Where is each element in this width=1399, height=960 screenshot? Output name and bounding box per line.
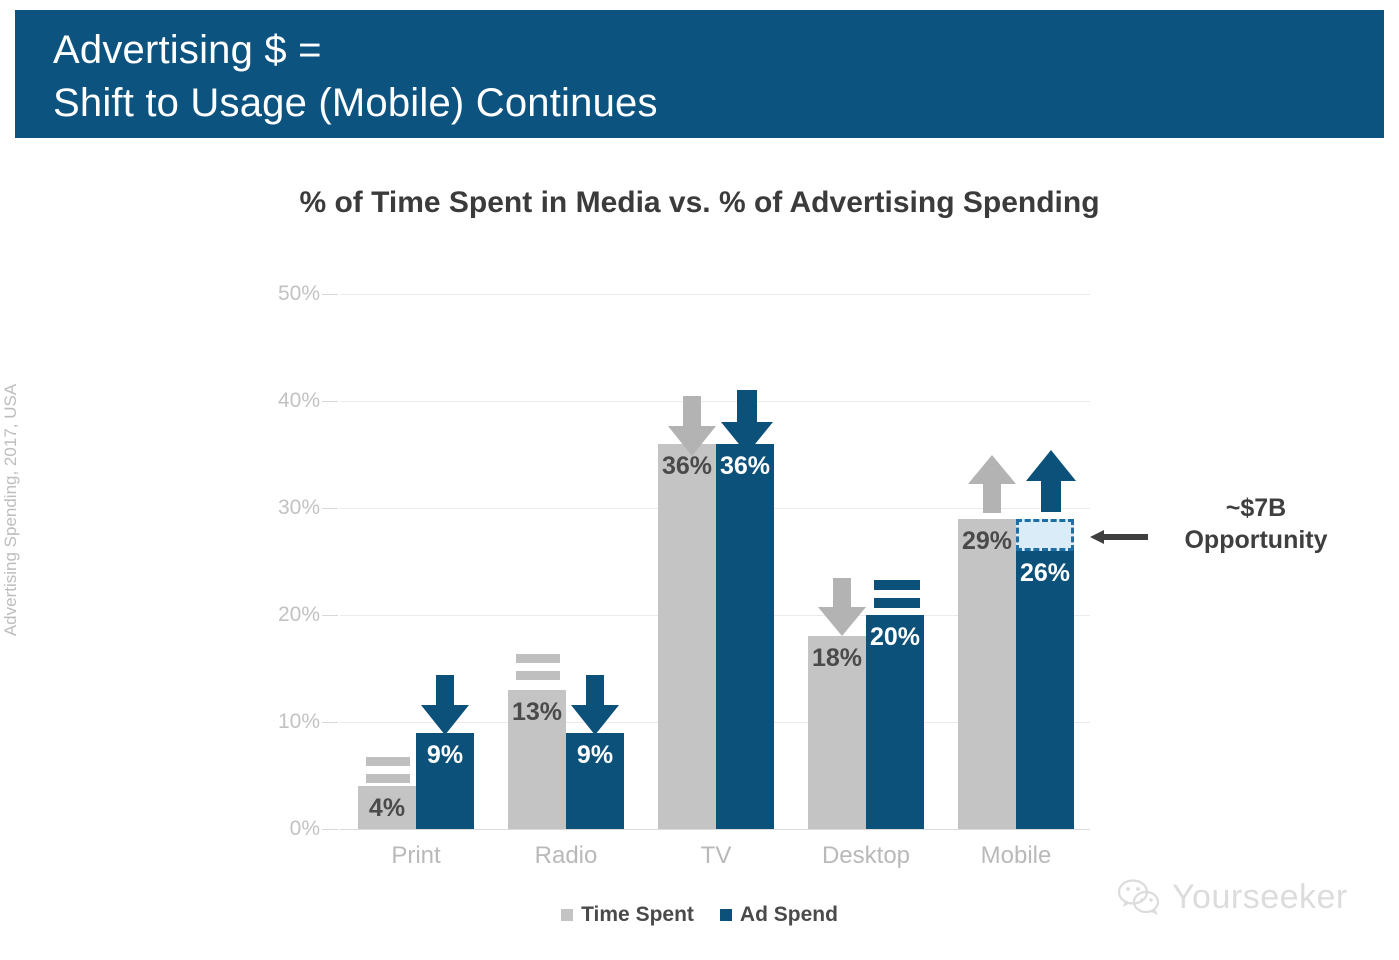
y-tick-mark-10 bbox=[322, 722, 338, 723]
y-tick-mark-0 bbox=[322, 829, 338, 830]
bar-label-ad-spend-mobile: 26% bbox=[1016, 559, 1074, 588]
legend-swatch-ad-spend bbox=[720, 909, 732, 921]
opportunity-callout-label: Opportunity bbox=[1146, 524, 1366, 556]
bar-time-spent-desktop[interactable]: 18% bbox=[808, 636, 866, 829]
opportunity-callout-amount: ~$7B bbox=[1146, 492, 1366, 524]
equals-icon-ad-spend-desktop bbox=[874, 578, 920, 612]
plot-area: 4% 9% 13% 9% 36% 36% 18% 20% 29% bbox=[340, 294, 1090, 829]
watermark-text: Yourseeker bbox=[1172, 878, 1348, 917]
legend-swatch-time-spent bbox=[561, 909, 573, 921]
y-tick-label-40: 40% bbox=[258, 389, 320, 413]
arrow-down-icon-time-spent-tv bbox=[666, 396, 718, 458]
y-tick-label-0: 0% bbox=[258, 817, 320, 841]
legend-label-ad-spend: Ad Spend bbox=[740, 903, 838, 927]
legend-item-ad-spend[interactable]: Ad Spend bbox=[720, 903, 838, 927]
bar-ad-spend-tv[interactable]: 36% bbox=[716, 444, 774, 829]
equals-icon-time-spent-radio bbox=[516, 652, 560, 684]
opportunity-callout: ~$7B Opportunity bbox=[1146, 492, 1366, 556]
arrow-down-icon-time-spent-desktop bbox=[816, 578, 868, 638]
gridline-50 bbox=[340, 294, 1090, 295]
y-tick-mark-50 bbox=[322, 294, 338, 295]
arrow-down-icon-ad-spend-tv bbox=[719, 390, 775, 456]
watermark: Yourseeker bbox=[1118, 878, 1348, 917]
y-tick-mark-30 bbox=[322, 508, 338, 509]
opportunity-pointer-arrow bbox=[1090, 530, 1148, 544]
bar-time-spent-print[interactable]: 4% bbox=[358, 786, 416, 829]
x-category-label-print: Print bbox=[340, 842, 492, 870]
x-category-label-desktop: Desktop bbox=[790, 842, 942, 870]
opportunity-highlight-box bbox=[1016, 519, 1074, 551]
x-category-label-tv: TV bbox=[640, 842, 792, 870]
legend-label-time-spent: Time Spent bbox=[581, 903, 694, 927]
y-tick-mark-40 bbox=[322, 401, 338, 402]
x-category-label-radio: Radio bbox=[490, 842, 642, 870]
x-category-label-mobile: Mobile bbox=[940, 842, 1092, 870]
arrow-down-icon-ad-spend-radio bbox=[569, 675, 621, 737]
equals-icon-time-spent-print bbox=[366, 755, 410, 787]
bar-time-spent-mobile[interactable]: 29% bbox=[958, 519, 1016, 829]
bar-ad-spend-desktop[interactable]: 20% bbox=[866, 615, 924, 829]
bar-time-spent-tv[interactable]: 36% bbox=[658, 444, 716, 829]
arrow-up-icon-time-spent-mobile bbox=[966, 455, 1018, 515]
bar-ad-spend-print[interactable]: 9% bbox=[416, 733, 474, 829]
arrow-down-icon-ad-spend-print bbox=[419, 675, 471, 737]
bar-label-time-spent-print: 4% bbox=[358, 794, 416, 823]
bar-ad-spend-mobile[interactable]: 26% bbox=[1016, 551, 1074, 829]
bar-label-time-spent-desktop: 18% bbox=[808, 644, 866, 673]
bar-time-spent-radio[interactable]: 13% bbox=[508, 690, 566, 829]
bar-label-time-spent-mobile: 29% bbox=[958, 527, 1016, 556]
bar-label-ad-spend-radio: 9% bbox=[566, 741, 624, 770]
bar-label-ad-spend-desktop: 20% bbox=[866, 623, 924, 652]
wechat-icon bbox=[1118, 879, 1162, 917]
bar-label-ad-spend-print: 9% bbox=[416, 741, 474, 770]
legend-item-time-spent[interactable]: Time Spent bbox=[561, 903, 694, 927]
bar-label-time-spent-radio: 13% bbox=[508, 698, 566, 727]
gridline-axis-baseline bbox=[340, 829, 1090, 830]
y-tick-label-30: 30% bbox=[258, 496, 320, 520]
bar-ad-spend-radio[interactable]: 9% bbox=[566, 733, 624, 829]
bar-label-ad-spend-tv: 36% bbox=[716, 452, 774, 481]
y-tick-label-50: 50% bbox=[258, 282, 320, 306]
y-tick-mark-20 bbox=[322, 615, 338, 616]
y-tick-label-10: 10% bbox=[258, 710, 320, 734]
y-tick-label-20: 20% bbox=[258, 603, 320, 627]
arrow-up-icon-ad-spend-mobile bbox=[1024, 450, 1078, 514]
chart-plot-wrapper: 50% 40% 30% 20% 10% 0% 4% 9% 13% 9% 3 bbox=[0, 0, 1399, 960]
